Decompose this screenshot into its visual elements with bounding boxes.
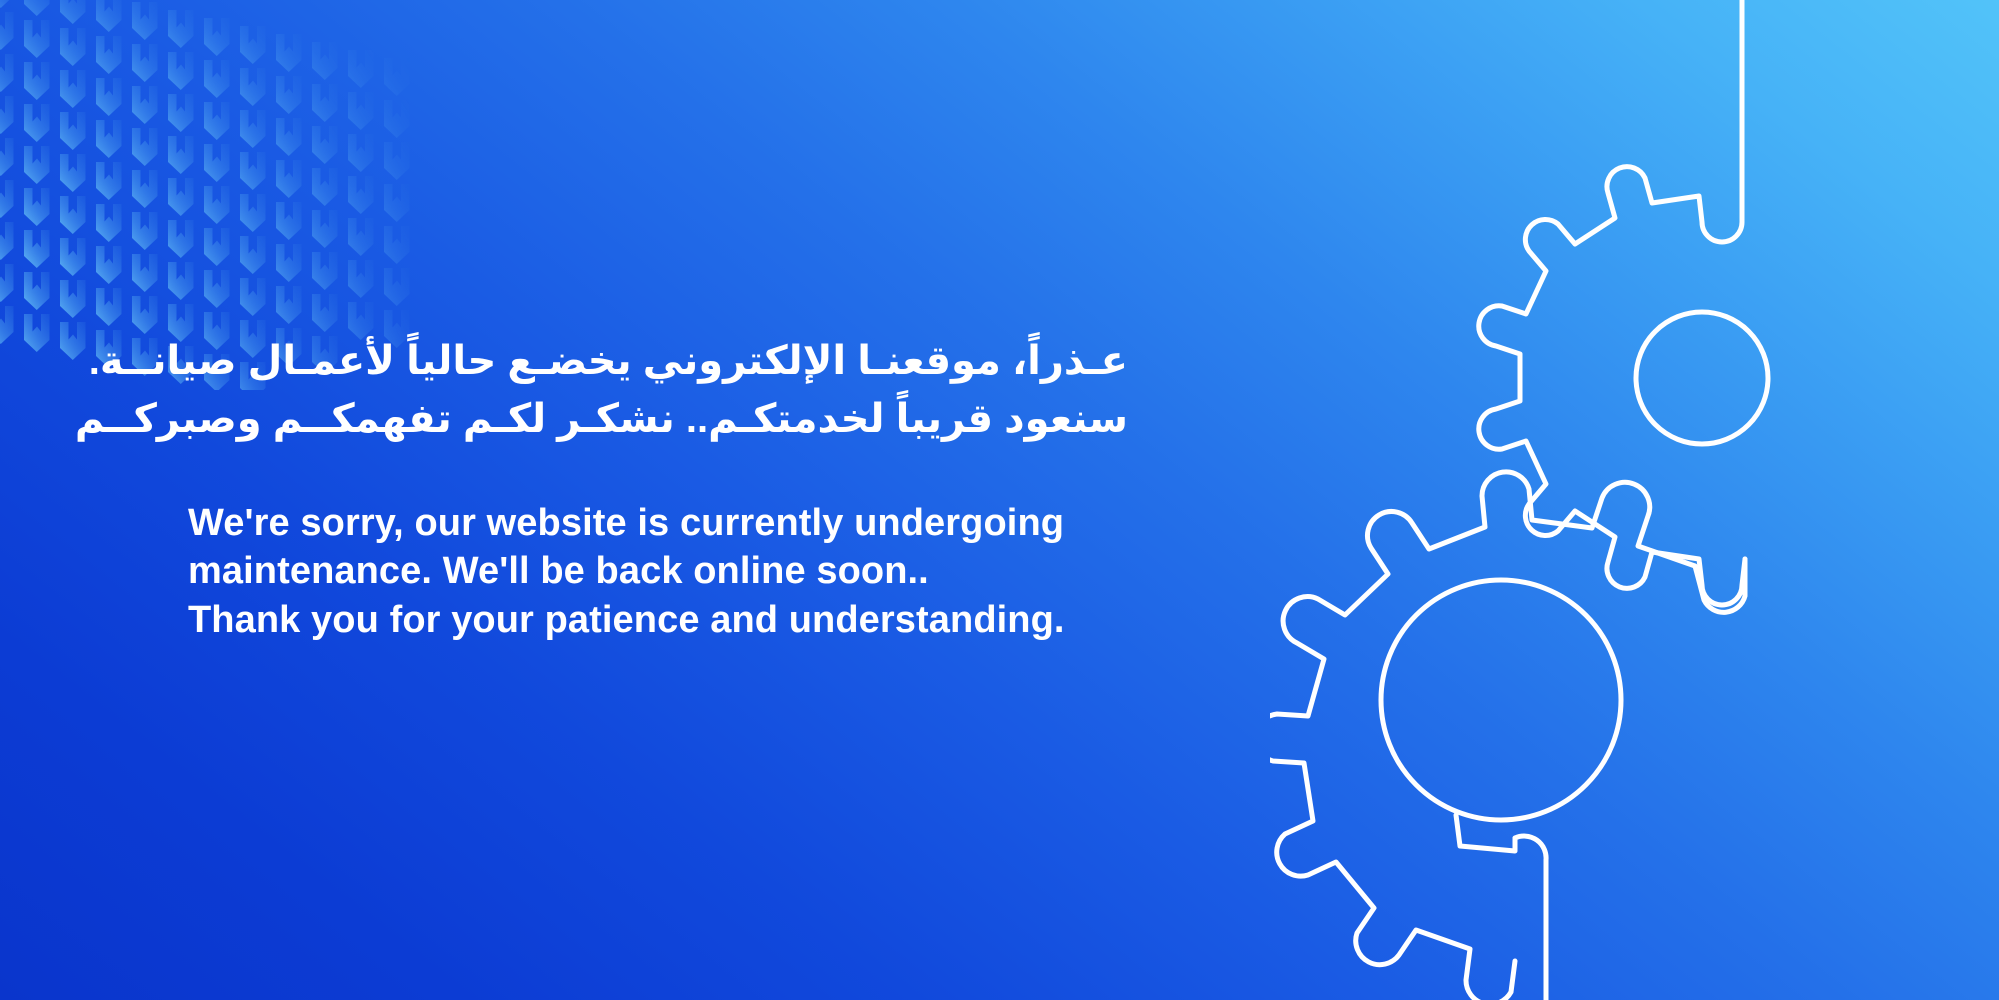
english-message: We're sorry, our website is currently un… [188, 499, 1128, 645]
bottom-gear-tooth-link [1515, 836, 1546, 860]
arabic-line-1: عـذراً، موقعنـا الإلكتروني يخضـع حالياً … [188, 332, 1128, 390]
maintenance-page: عـذراً، موقعنـا الإلكتروني يخضـع حالياً … [0, 0, 1999, 1000]
english-line-2: maintenance. We'll be back online soon.. [188, 547, 1128, 596]
small-gear-inner-circle [1636, 312, 1768, 444]
english-line-3: Thank you for your patience and understa… [188, 596, 1128, 645]
large-gear-outline [1270, 472, 1695, 1000]
gear-bridge-segment [1695, 559, 1745, 612]
arabic-message: عـذراً، موقعنـا الإلكتروني يخضـع حالياً … [188, 332, 1128, 449]
gear-illustration [1270, 0, 1999, 1000]
small-gear-outline [1479, 167, 1745, 605]
arabic-line-2: سنعود قريباً لخدمتكـم.. نشكـر لكـم تفهمك… [188, 390, 1128, 448]
maintenance-message: عـذراً، موقعنـا الإلكتروني يخضـع حالياً … [188, 332, 1128, 645]
large-gear-inner-circle [1381, 580, 1621, 820]
english-line-1: We're sorry, our website is currently un… [188, 499, 1128, 548]
bottom-tooth-shoulder [1456, 815, 1515, 851]
